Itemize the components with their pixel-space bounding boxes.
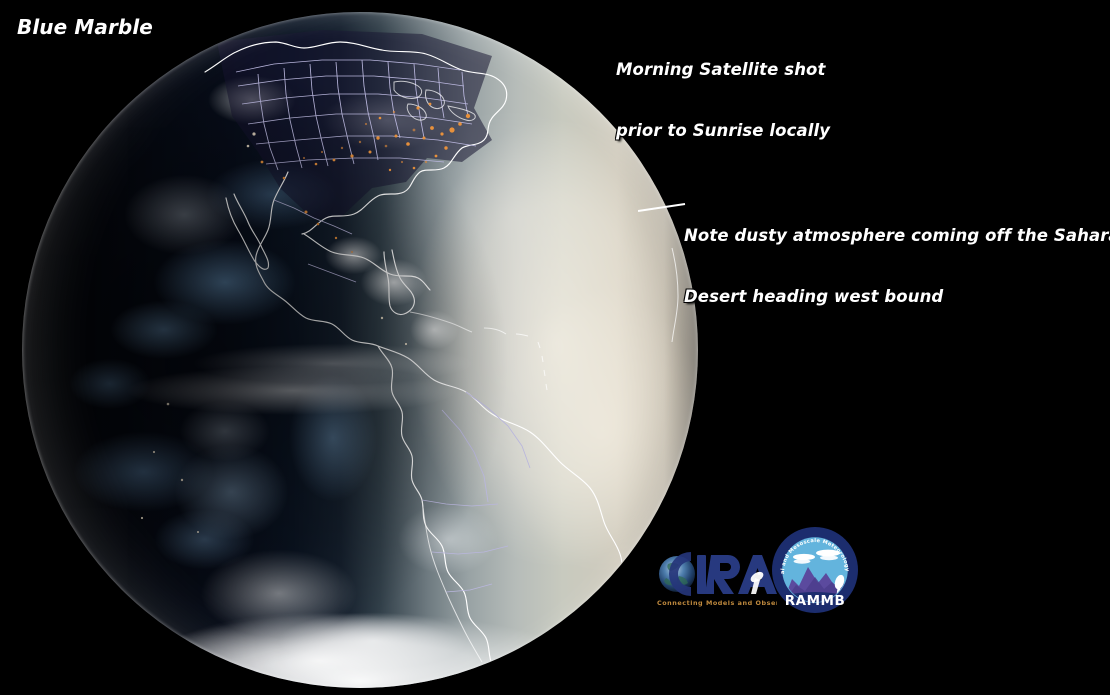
annotation-morning-note: Morning Satellite shot prior to Sunrise …	[616, 20, 830, 181]
annotation-sahara-line-2: Desert heading west bound	[684, 287, 1110, 307]
rammb-wordmark: RAMMB	[785, 593, 846, 609]
cira-wordmark	[697, 555, 777, 594]
earth-full-disk-image	[22, 12, 698, 688]
cira-logo: Connecting Models and Observations	[655, 548, 777, 610]
screenshot-canvas: Blue Marble Morning Satellite shot prior…	[0, 0, 1110, 695]
annotation-morning-line-1: Morning Satellite shot	[616, 60, 830, 80]
cira-c-globe-icon	[659, 552, 695, 596]
rammb-logo: Regional and Mesoscale Meteorology Branc…	[772, 527, 858, 613]
annotation-sahara-line-1: Note dusty atmosphere coming off the Sah…	[684, 226, 1110, 246]
annotation-sahara-dust-note: Note dusty atmosphere coming off the Sah…	[684, 186, 1110, 347]
page-title: Blue Marble	[17, 15, 153, 39]
annotation-leader-line-icon	[638, 203, 686, 212]
cira-tagline: Connecting Models and Observations	[657, 599, 777, 607]
limb-highlight	[22, 12, 698, 688]
annotation-morning-line-2: prior to Sunrise locally	[616, 121, 830, 141]
